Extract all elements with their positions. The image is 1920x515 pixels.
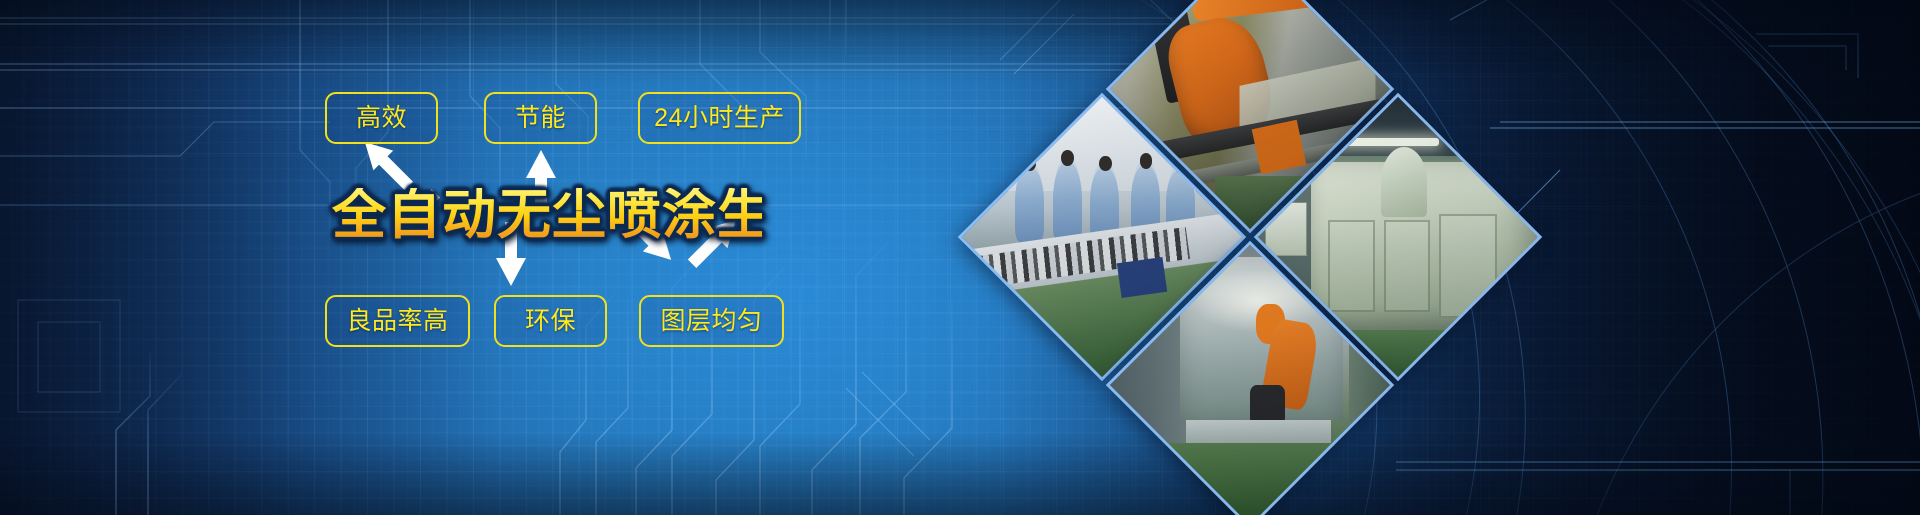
promo-banner: 高效 节能 24小时生产 全自动无尘喷涂生产线 良品率高 环保 图层均匀 xyxy=(0,0,1920,515)
feature-chip-high-yield[interactable]: 良品率高 xyxy=(325,295,470,347)
diamond-photo-collage xyxy=(1040,36,1460,456)
feature-chip-energy-saving[interactable]: 节能 xyxy=(484,92,597,144)
feature-chip-efficiency[interactable]: 高效 xyxy=(325,92,438,144)
feature-chip-uniform-coating[interactable]: 图层均匀 xyxy=(639,295,784,347)
feature-chip-eco-friendly[interactable]: 环保 xyxy=(494,295,607,347)
feature-infographic: 高效 节能 24小时生产 全自动无尘喷涂生产线 良品率高 环保 图层均匀 xyxy=(0,0,1000,515)
feature-chip-24h-production[interactable]: 24小时生产 xyxy=(638,92,801,144)
page-title: 全自动无尘喷涂生产线 xyxy=(332,188,762,242)
arrow-group xyxy=(0,0,1000,515)
